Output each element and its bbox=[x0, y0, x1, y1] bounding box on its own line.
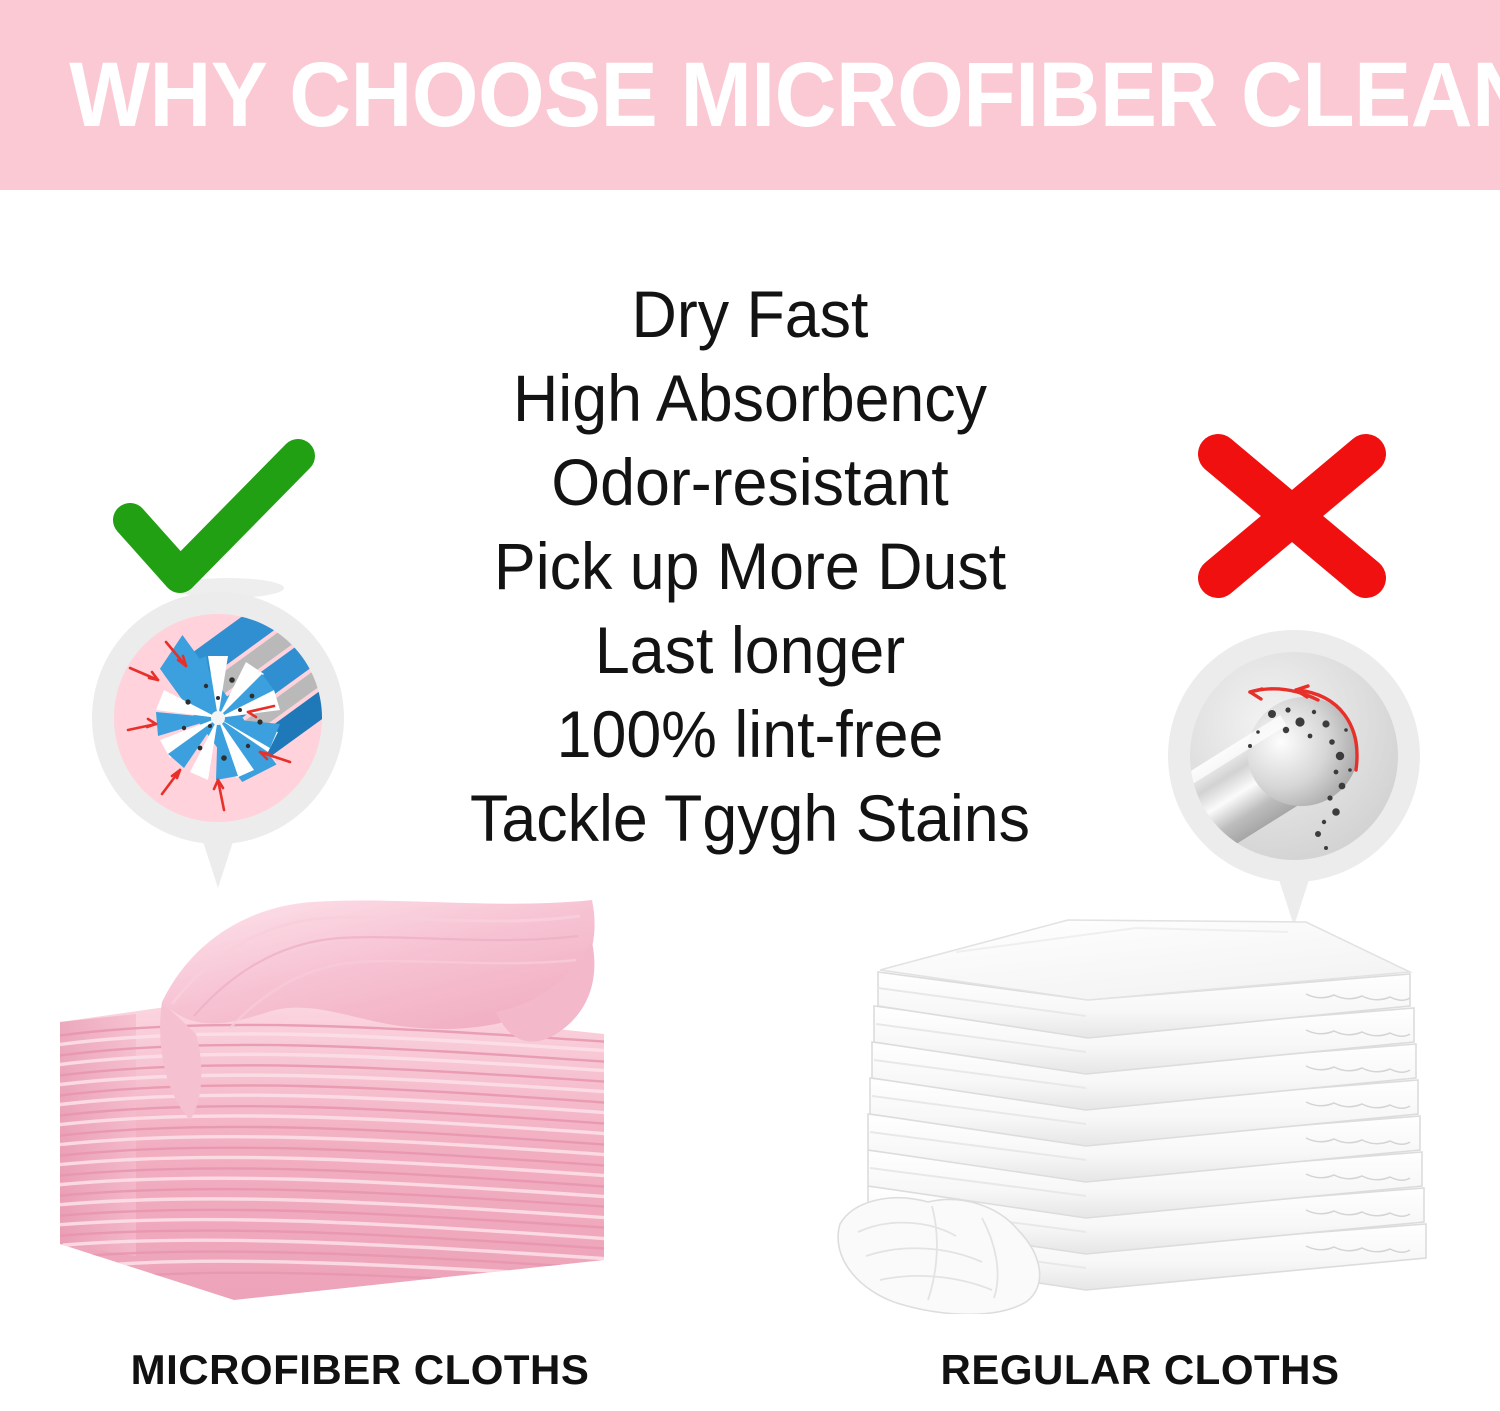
microfiber-cross-section-icon bbox=[114, 614, 322, 822]
microfiber-callout bbox=[92, 592, 344, 892]
regular-fiber-dust-icon bbox=[1190, 652, 1398, 860]
microfiber-cloths-caption: MICROFIBER CLOTHS bbox=[60, 1344, 660, 1396]
feature-item: Dry Fast bbox=[399, 272, 1102, 356]
white-regular-cloth-stack bbox=[836, 906, 1446, 1314]
regular-fiber-callout bbox=[1168, 630, 1420, 930]
header-banner: WHY CHOOSE MICROFIBER CLEANIG CLOTHS bbox=[0, 0, 1500, 190]
green-check-icon bbox=[110, 438, 320, 598]
feature-item: 100% lint-free bbox=[399, 692, 1102, 776]
feature-item: High Absorbency bbox=[399, 356, 1102, 440]
feature-item: Tackle Tgygh Stains bbox=[399, 776, 1102, 860]
regular-cloths-caption: REGULAR CLOTHS bbox=[880, 1344, 1400, 1396]
feature-item: Pick up More Dust bbox=[399, 524, 1102, 608]
feature-item: Odor-resistant bbox=[399, 440, 1102, 524]
red-x-icon bbox=[1192, 432, 1392, 600]
pink-microfiber-cloth-stack bbox=[44, 884, 644, 1314]
feature-list: Dry Fast High Absorbency Odor-resistant … bbox=[380, 272, 1120, 860]
page-title: WHY CHOOSE MICROFIBER CLEANIG CLOTHS bbox=[69, 40, 1431, 150]
feature-item: Last longer bbox=[399, 608, 1102, 692]
